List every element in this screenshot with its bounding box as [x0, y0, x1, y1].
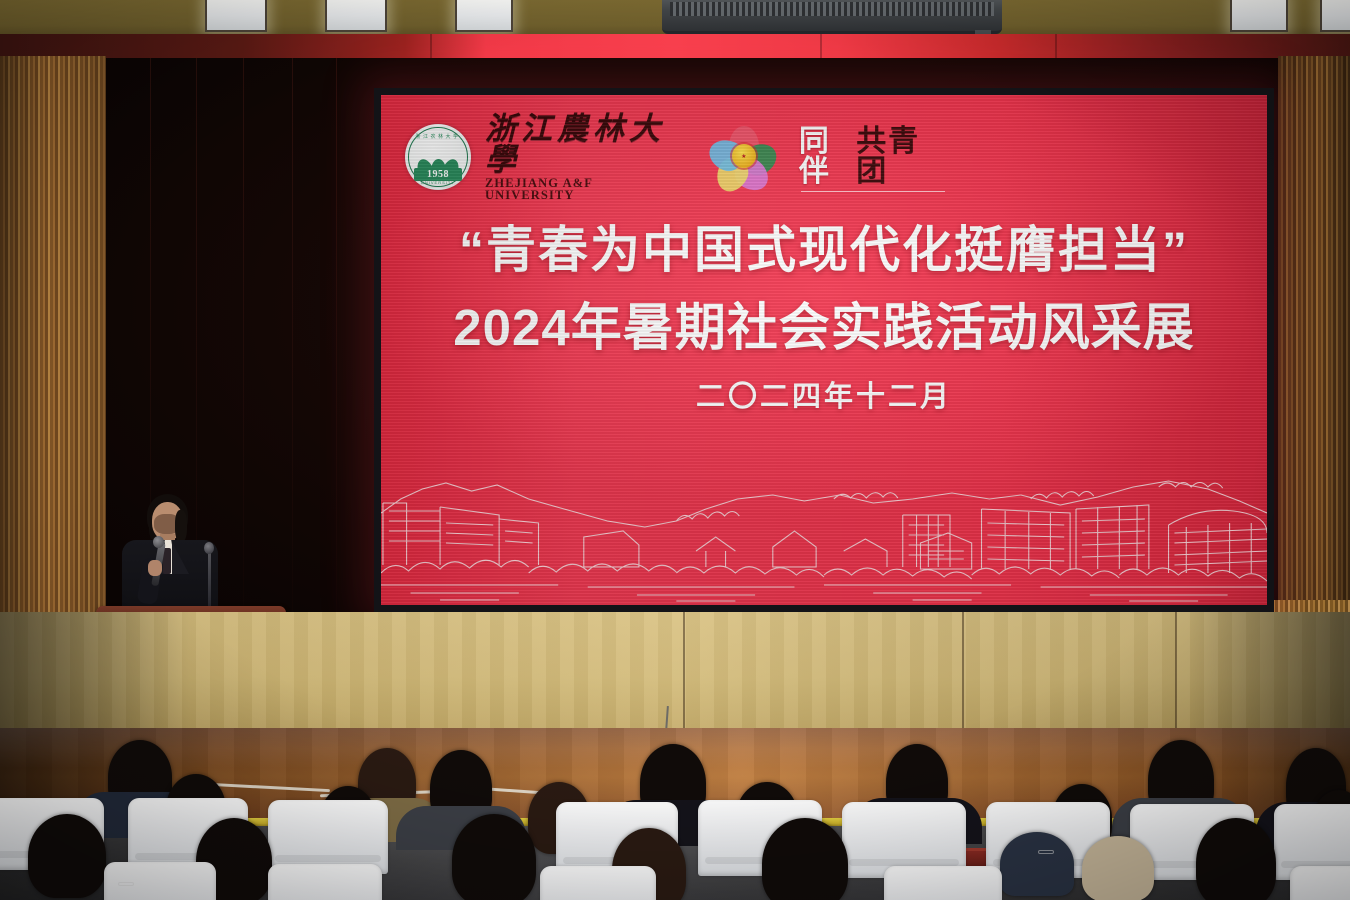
university-name-en: ZHEJIANG A&F UNIVERSITY: [485, 177, 685, 202]
ceiling-light-panel: [205, 0, 267, 32]
screen-logo-row: 浙江农林大学 1958 ZHEJIANG A&F UNIVERSITY 浙江農林…: [405, 119, 945, 195]
headline-line-2: 2024年暑期社会实践活动风采展: [407, 300, 1241, 356]
ceiling-light-panel: [325, 0, 387, 32]
ceiling-light-panel: [1230, 0, 1288, 32]
upper-red-wall-band: [0, 34, 1350, 60]
audience-area: [0, 756, 1350, 900]
partner-underline: [801, 191, 945, 193]
partner-text-primary: 同伴: [799, 127, 856, 187]
audience-chair: [104, 862, 216, 900]
audience-head-with-cap: [1000, 832, 1074, 896]
eyeglasses-icon: [1038, 850, 1054, 854]
audience-chair: [268, 864, 382, 900]
ceiling-vent-icon: [662, 0, 1002, 34]
audience-chair: [540, 866, 656, 900]
audience-head: [452, 814, 536, 900]
speaker-hand: [148, 560, 162, 576]
podium-microphone-stand: [208, 548, 211, 610]
led-screen-surface: 浙江农林大学 1958 ZHEJIANG A&F UNIVERSITY 浙江農林…: [381, 95, 1267, 605]
audience-head: [28, 814, 106, 898]
podium-microphone-head-icon: [204, 542, 214, 554]
audience-head: [762, 818, 848, 900]
screen-headline-block: “青春为中国式现代化挺膺担当” 2024年暑期社会实践活动风采展 二〇二四年十二…: [381, 223, 1267, 414]
auditorium-photo: 浙江农林大学 1958 ZHEJIANG A&F UNIVERSITY 浙江農林…: [0, 0, 1350, 900]
ceiling-light-panel: [1320, 0, 1350, 32]
university-name-block: 浙江農林大學 ZHEJIANG A&F UNIVERSITY: [485, 113, 685, 202]
partner-text-secondary: 共青团: [856, 127, 945, 187]
partner-core-badge-icon: ★: [732, 144, 756, 168]
stage-back-wall: [0, 612, 1350, 730]
right-wood-slat-wall: [1278, 56, 1350, 656]
audience-chair: [884, 866, 1002, 900]
audience-chair: [268, 800, 388, 874]
campus-skyline-illustration: [381, 469, 1267, 605]
left-wood-slat-wall: [0, 56, 106, 656]
headline-line-1: “青春为中国式现代化挺膺担当”: [407, 223, 1241, 278]
university-name-cn: 浙江農林大學: [485, 113, 685, 175]
partner-wordmark: 同伴 共青团: [799, 127, 945, 187]
ceiling-light-panel: [455, 0, 513, 32]
led-display-screen: 浙江农林大学 1958 ZHEJIANG A&F UNIVERSITY 浙江農林…: [374, 88, 1274, 612]
speaker-hair-side: [175, 510, 187, 542]
audience-head: [1196, 818, 1276, 900]
university-emblem-icon: 浙江农林大学 1958 ZHEJIANG A&F UNIVERSITY: [405, 124, 471, 190]
partner-flower-icon: ★: [713, 126, 775, 188]
eyeglasses-icon: [118, 882, 134, 886]
audience-head-light-hair: [1082, 836, 1154, 900]
emblem-arc-en-label: ZHEJIANG A&F UNIVERSITY: [405, 175, 471, 185]
microphone-capsule-icon: [153, 536, 164, 548]
headline-date-line: 二〇二四年十二月: [407, 382, 1241, 414]
emblem-arc-cn-label: 浙江农林大学: [405, 133, 471, 140]
audience-chair: [1290, 866, 1350, 900]
